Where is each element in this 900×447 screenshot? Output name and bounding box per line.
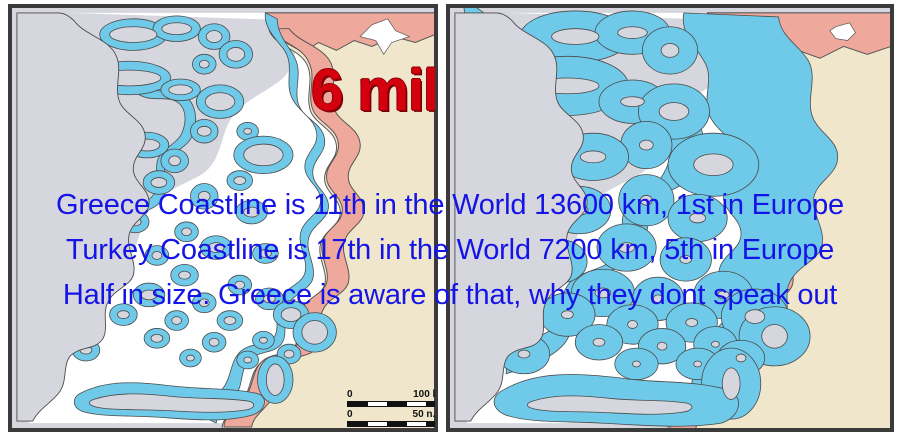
scalebar-nm-labels: 0 50 n.m. bbox=[347, 409, 438, 421]
nautical-mile-label-six: 6 mil bbox=[311, 62, 438, 120]
scalebar-km-max: 100 km bbox=[413, 389, 438, 401]
scalebar-km-bar bbox=[347, 401, 438, 407]
scalebar-km-labels: 0 100 km bbox=[347, 389, 438, 401]
scalebar-nm-zero: 0 bbox=[347, 409, 353, 421]
map-panel-six-mile: 6 mil 0 100 km 0 50 n.m. bbox=[8, 4, 438, 432]
aegean-map-twelve-mile bbox=[449, 7, 891, 429]
scalebar-km-zero: 0 bbox=[347, 389, 353, 401]
map-panel-twelve-mile: 12 mil 0 100 km 0 50 n.m. bbox=[446, 4, 894, 432]
scalebar-six-mile: 0 100 km 0 50 n.m. bbox=[347, 389, 438, 429]
image-root: 6 mil 0 100 km 0 50 n.m. bbox=[0, 0, 900, 447]
scalebar-nm-bar bbox=[347, 421, 438, 427]
scalebar-nm-max: 50 n.m. bbox=[413, 409, 438, 421]
